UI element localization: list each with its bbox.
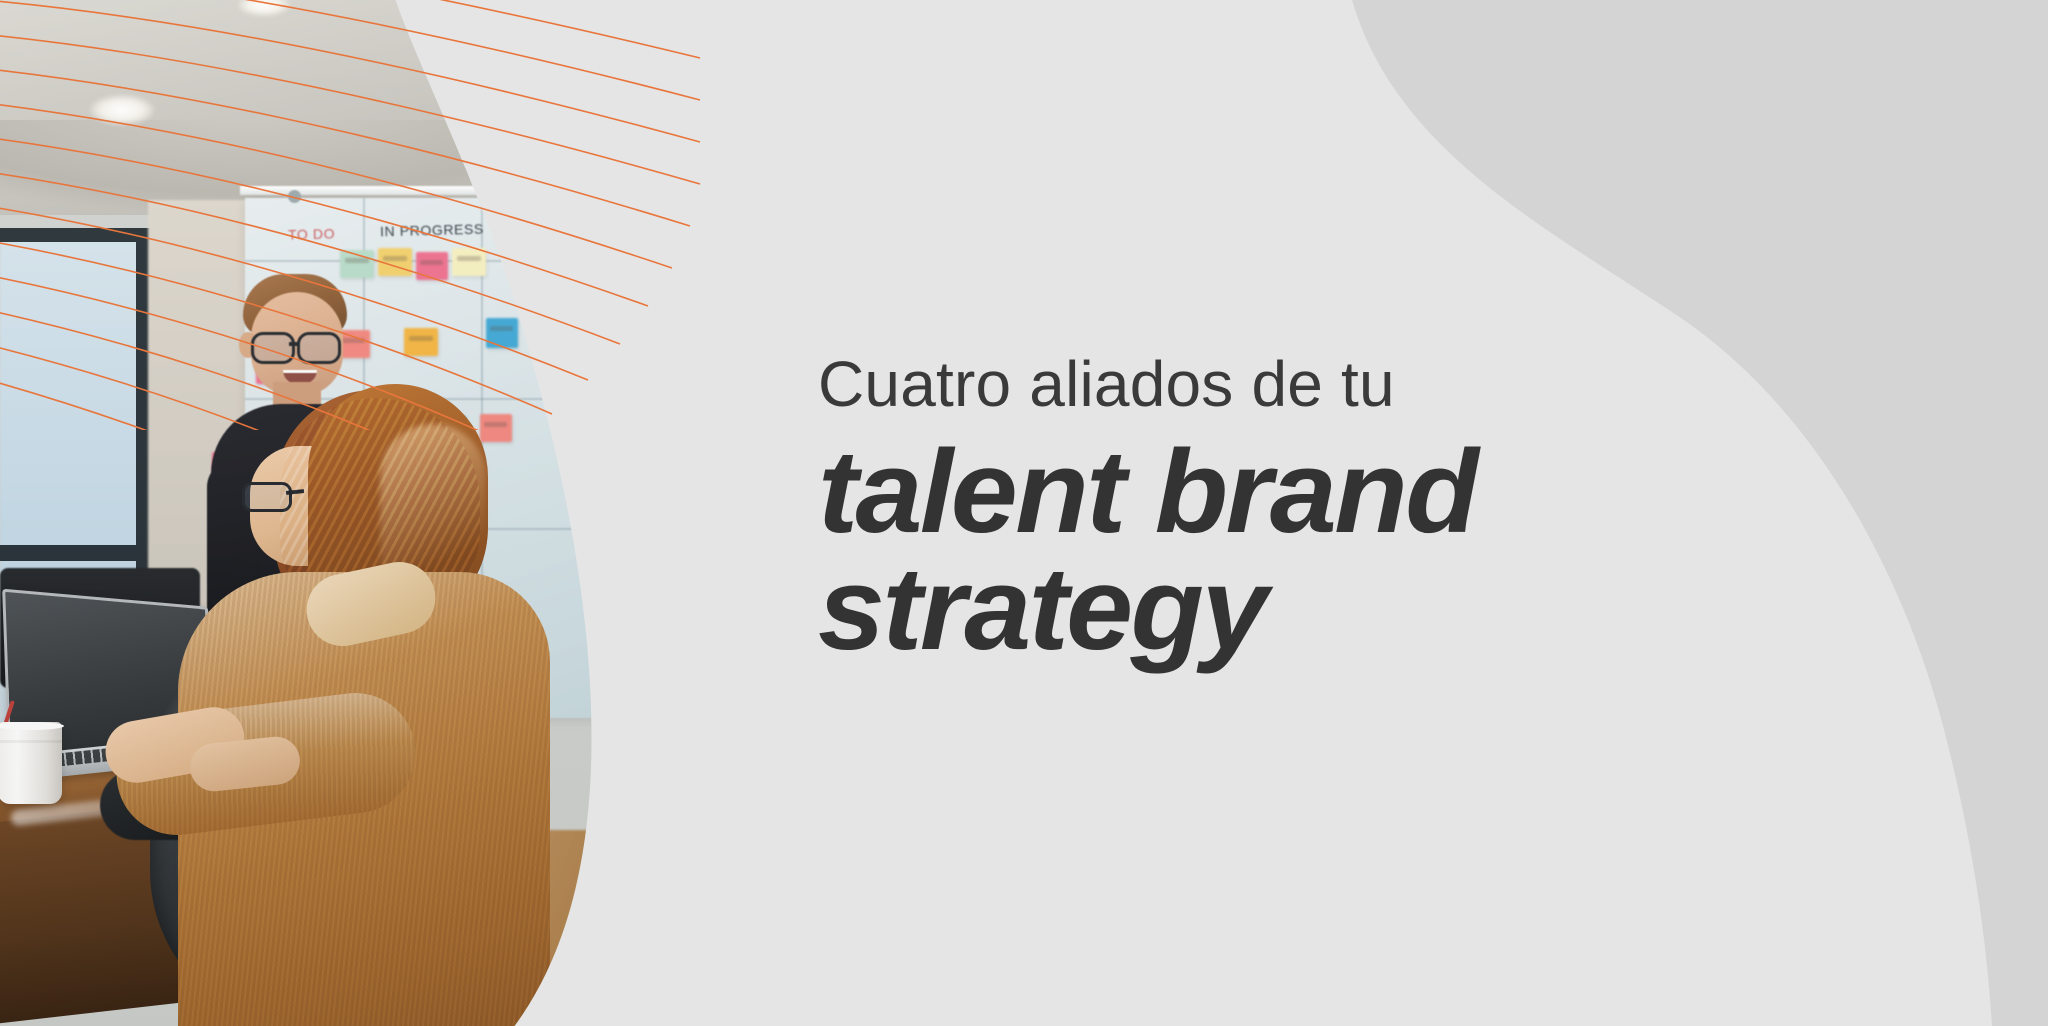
kanban-column-done: DONE	[512, 221, 555, 238]
sticky-note	[452, 248, 486, 276]
headline-line-1: Cuatro aliados de tu	[818, 352, 1928, 416]
headline-block: Cuatro aliados de tu talent brand strate…	[818, 352, 1928, 672]
kanban-column-qa: Q&A	[586, 222, 618, 239]
window-frame	[0, 228, 150, 242]
person-seated	[130, 390, 550, 1026]
headline-line-3: strategy	[818, 547, 1950, 672]
coffee-cup	[0, 722, 62, 804]
whiteboard-clip	[288, 190, 301, 203]
kanban-column-inprogress: IN PROGRESS	[380, 221, 484, 240]
hero-photo: TO DO IN PROGRESS DONE Q&A	[0, 0, 700, 1026]
sticky-note	[416, 252, 448, 280]
headline-line-2: talent brand	[818, 430, 1950, 555]
sticky-note	[486, 318, 518, 348]
ceiling-light	[90, 95, 154, 125]
hero-banner: TO DO IN PROGRESS DONE Q&A	[0, 0, 2048, 1026]
sticky-note	[404, 328, 438, 356]
office-photo-scene: TO DO IN PROGRESS DONE Q&A	[0, 0, 700, 1026]
kanban-column-todo: TO DO	[288, 225, 335, 242]
glasses-icon	[251, 332, 347, 358]
window-frame	[0, 545, 150, 561]
whiteboard-rail	[240, 186, 700, 195]
